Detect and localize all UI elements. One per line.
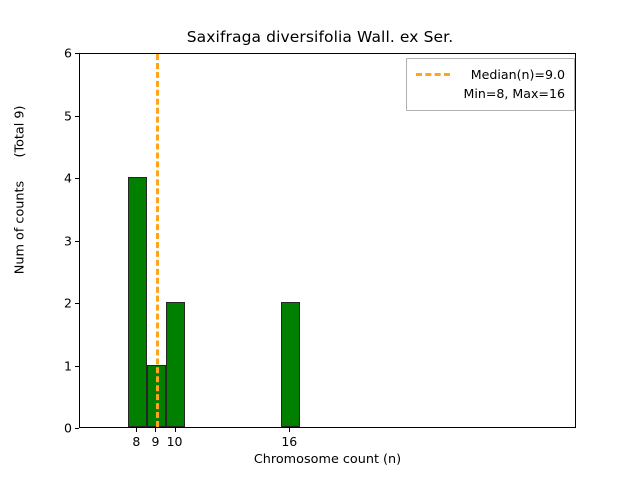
- y-tick-mark: [75, 366, 79, 367]
- x-tick-label: 10: [167, 434, 183, 449]
- page-title: Saxifraga diversifolia Wall. ex Ser.: [0, 28, 640, 46]
- y-tick-label: 4: [64, 171, 72, 186]
- bar: [166, 302, 185, 427]
- legend-item: Median(n)=9.0: [416, 65, 565, 84]
- x-tick-mark: [155, 428, 156, 432]
- y-tick-mark: [75, 241, 79, 242]
- legend-label: Min=8, Max=16: [459, 86, 565, 101]
- legend: Median(n)=9.0 Min=8, Max=16: [406, 58, 575, 111]
- x-tick-mark: [175, 428, 176, 432]
- y-tick-mark: [75, 116, 79, 117]
- median-line: [156, 54, 159, 427]
- x-tick-label: 16: [281, 434, 297, 449]
- y-tick-label: 1: [64, 358, 72, 373]
- x-tick-label: 9: [151, 434, 159, 449]
- legend-label: Median(n)=9.0: [459, 67, 565, 82]
- y-tick-label: 3: [64, 233, 72, 248]
- bar: [281, 302, 300, 427]
- y-tick-label: 2: [64, 296, 72, 311]
- y-axis-total-label: (Total 9): [13, 12, 28, 252]
- y-tick-mark: [75, 53, 79, 54]
- x-axis-label: Chromosome count (n): [79, 452, 576, 467]
- y-tick-label: 0: [64, 421, 72, 436]
- y-tick-mark: [75, 303, 79, 304]
- chart-figure: Saxifraga diversifolia Wall. ex Ser. 012…: [0, 0, 640, 480]
- x-tick-mark: [136, 428, 137, 432]
- x-tick-label: 8: [132, 434, 140, 449]
- y-axis-label-group: Num of counts (Total 9): [0, 53, 30, 428]
- y-tick-label: 6: [64, 46, 72, 61]
- legend-item: Min=8, Max=16: [416, 84, 565, 103]
- y-tick-mark: [75, 178, 79, 179]
- y-tick-label: 5: [64, 108, 72, 123]
- bar: [128, 177, 147, 427]
- x-tick-mark: [289, 428, 290, 432]
- dashed-line-icon: [416, 73, 450, 76]
